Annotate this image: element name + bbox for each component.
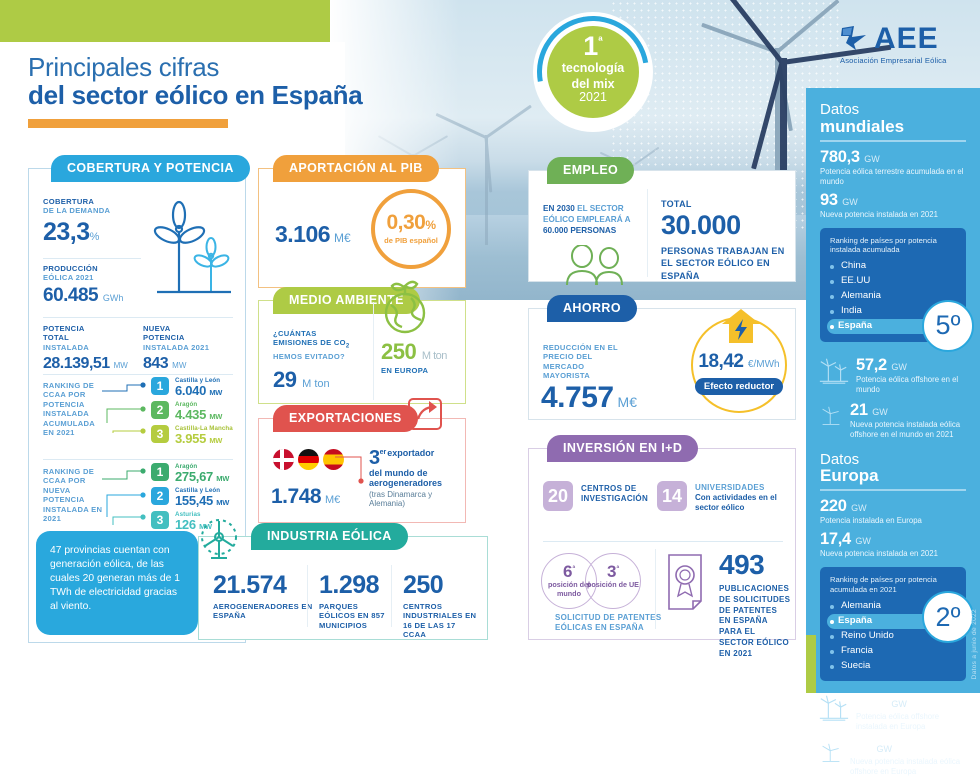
id-pos-world-sup: ª xyxy=(572,565,575,572)
ma-q2-sub: 2 xyxy=(346,344,350,350)
export-rank-text-2: del mundo de xyxy=(369,468,461,478)
rank-value: 3.955 MW xyxy=(175,431,233,446)
europa-rank-header: Ranking de países por potencia acumulada… xyxy=(830,575,956,594)
badge-year: 2021 xyxy=(547,91,639,105)
id-pub-value: 493 xyxy=(719,549,791,581)
rank-value-num: 3.955 xyxy=(175,431,206,446)
industria-label-1: AEROGENERADORES EN ESPAÑA xyxy=(213,602,313,621)
export-rank-text-1: exportador xyxy=(387,449,434,459)
offshore-turbine-single-icon xyxy=(818,401,844,431)
europa-rank-item[interactable]: Francia xyxy=(830,644,956,659)
europa-stat2-desc: Nueva potencia instalada en 2021 xyxy=(820,549,966,559)
europa-stat-3: 28,3 GW Potencia eólica offshore instala… xyxy=(806,681,980,732)
id-pos-eu-value: 3ª xyxy=(586,563,640,580)
europa-stat1-desc: Potencia instalada en Europa xyxy=(820,516,966,526)
ranking-new-row: 2 Castilla y León 155,45 MW xyxy=(151,487,229,508)
id-centros-group: 20 CENTROS DE INVESTIGACIÓN xyxy=(543,481,659,511)
card-empleo: EMPLEO EN 2030 EL SECTOR EÓLICO EMPLEARÁ… xyxy=(528,170,796,282)
offshore-turbines-icon xyxy=(818,693,850,723)
sidebar-footnote: Datos a junio de 2022 xyxy=(971,609,978,679)
rank-value-unit: MW xyxy=(216,474,229,483)
mundiales-position-badge: 5º xyxy=(922,300,974,352)
ahorro-number: 4.757 xyxy=(541,381,614,414)
mundiales-stat-2: 93 GW Nueva potencia instalada en 2021 xyxy=(806,187,980,220)
industria-value-1: 21.574 xyxy=(213,571,313,600)
page-title: Principales cifras del sector eólico en … xyxy=(28,52,362,128)
europa-stat3-unit: GW xyxy=(891,699,907,709)
top-badge: 1ª tecnología del mix 2021 xyxy=(533,12,653,132)
mundiales-title-b: mundiales xyxy=(820,118,980,136)
europa-title-b: Europa xyxy=(820,467,980,485)
mundiales-stat4-value: 21 xyxy=(850,401,868,419)
ranking-acc-row: 2 Aragón 4.435 MW xyxy=(151,401,233,422)
id-pos-eu-sup: ª xyxy=(616,565,619,572)
ma-spain-value: 29 M ton xyxy=(273,367,373,393)
mundiales-stat4-desc: Nueva potencia instalada eólica offshore… xyxy=(850,420,968,440)
badge-line-2: tecnología xyxy=(547,62,639,76)
turbine-illustration-icon xyxy=(149,199,235,309)
sidebar: Datos mundiales 780,3 GW Potencia eólica… xyxy=(806,88,980,693)
europa-stat1-value: 220 xyxy=(820,497,847,515)
mundiales-title-a: Datos xyxy=(820,102,980,118)
patent-document-icon xyxy=(665,553,711,611)
pib-pct-number: 0,30 xyxy=(386,211,425,234)
badge-line-3: del mix xyxy=(547,78,639,92)
rank-value-unit: MW xyxy=(209,412,222,421)
cobertura-prod-value: 60.485 GWh xyxy=(43,285,153,307)
title-line-1: Principales cifras xyxy=(28,52,362,83)
demand-number: 23,3 xyxy=(43,218,90,246)
rank-pos: 1 xyxy=(151,463,169,481)
ma-europe-label: EN EUROPA xyxy=(381,366,447,375)
pib-unit: M€ xyxy=(334,231,351,245)
prod-unit: GWh xyxy=(103,293,124,303)
ahorro-desc: REDUCCIÓN EN EL PRECIO DEL MERCADO MAYOR… xyxy=(543,343,623,381)
mundiales-stat1-value: 780,3 xyxy=(820,148,860,166)
rank-pos: 3 xyxy=(151,511,169,529)
industria-pill: INDUSTRIA EÓLICA xyxy=(251,523,408,550)
europa-stat-2: 17,4 GW Nueva potencia instalada en 2021 xyxy=(806,526,980,559)
europa-stat4-value: 3,3 xyxy=(850,738,872,756)
empleo-total-value: 30.000 xyxy=(661,210,785,241)
ahorro-chip: Efecto reductor xyxy=(695,378,783,395)
export-rank-note: (tras Dinamarca y Alemania) xyxy=(369,490,461,509)
flag-denmark-icon xyxy=(273,449,294,470)
cobertura-pill: COBERTURA Y POTENCIA xyxy=(51,155,250,182)
cobertura-demand-label-1: COBERTURA xyxy=(43,197,143,206)
ranking-acc-label: RANKING DE CCAA POR POTENCIA INSTALADA A… xyxy=(43,381,105,438)
ma-q2-text: EMISIONES DE CO xyxy=(273,338,346,347)
demand-unit: % xyxy=(90,231,100,243)
mundiales-stat2-value: 93 xyxy=(820,191,838,209)
mundiales-stat1-desc: Potencia eólica terrestre acumulada en e… xyxy=(820,167,966,187)
id-divider xyxy=(655,549,656,629)
aee-logo: AEE Asociación Empresarial Eólica xyxy=(840,24,947,65)
pib-value: 3.106 M€ xyxy=(275,221,351,248)
pib-pct-symbol: % xyxy=(425,218,435,232)
industria-value-2: 1.298 xyxy=(319,571,389,600)
ma-question-3: HEMOS EVITADO? xyxy=(273,352,373,361)
ahorro-circle: 18,42 €/MWh Efecto reductor xyxy=(691,317,787,413)
id-patents-label: SOLICITUD DE PATENTES EÓLICAS EN ESPAÑA xyxy=(555,613,665,633)
ahorro-unit: M€ xyxy=(618,394,637,410)
ma-europe-number: 250 xyxy=(381,339,416,364)
rank-value: 275,67 MW xyxy=(175,469,229,484)
empleo-left-bold-2: 60.000 PERSONAS xyxy=(543,226,616,235)
badge-rank-sup: ª xyxy=(598,34,602,48)
rank-value-unit: MW xyxy=(216,498,229,507)
europa-position-badge: 2º xyxy=(922,591,974,643)
export-number: 1.748 xyxy=(271,485,321,508)
ranking-acc-label-text: RANKING DE CCAA POR POTENCIA INSTALADA A… xyxy=(43,381,95,437)
mundiales-stat4-unit: GW xyxy=(872,407,888,417)
logo-name: AEE xyxy=(874,24,939,54)
pib-pill: APORTACIÓN AL PIB xyxy=(273,155,439,182)
ranking-new-label-text: RANKING DE CCAA POR NUEVA POTENCIA INSTA… xyxy=(43,467,102,523)
rank-pos: 2 xyxy=(151,487,169,505)
export-unit: M€ xyxy=(325,494,340,506)
europa-stat3-value: 28,3 xyxy=(856,693,887,711)
rank-value-num: 155,45 xyxy=(175,493,213,508)
id-pos-eu-circle: 3ª posición de UE xyxy=(585,553,641,609)
ma-spain-number: 29 xyxy=(273,367,296,392)
new-number: 843 xyxy=(143,355,168,372)
rank-value-unit: MW xyxy=(209,388,222,397)
mundiales-stat1-unit: GW xyxy=(864,154,880,164)
id-centros-label: CENTROS DE INVESTIGACIÓN xyxy=(581,484,659,504)
cobertura-prod-label-1: PRODUCCIÓN xyxy=(43,264,153,273)
total-number: 28.139,51 xyxy=(43,355,110,372)
house-bolt-icon xyxy=(720,305,762,347)
pib-pct-value: 0,30% xyxy=(375,211,447,235)
ahorro-value: 4.757 M€ xyxy=(541,381,637,415)
cobertura-total-label-3: INSTALADA xyxy=(43,343,133,352)
id-pub-label: PUBLICACIONES DE SOLICITUDES DE PATENTES… xyxy=(719,584,791,660)
offshore-turbines-icon xyxy=(818,356,850,386)
export-share-icon xyxy=(405,393,447,435)
id-uni-label: Con actividades en el sector eólico xyxy=(695,493,781,513)
ahorro-circle-value: 18,42 xyxy=(698,351,743,372)
ahorro-circle-unit: €/MWh xyxy=(748,359,780,370)
cobertura-demand-value: 23,3% xyxy=(43,218,143,247)
id-pos-eu-label: posición de UE xyxy=(586,581,640,590)
ahorro-pill: AHORRO xyxy=(547,295,637,322)
rank-value-unit: MW xyxy=(209,436,222,445)
ma-spain-unit: M ton xyxy=(302,378,330,390)
mundiales-rank-item[interactable]: EE.UU xyxy=(830,274,956,289)
industry-turbine-icon xyxy=(191,511,247,567)
mundiales-stat2-desc: Nueva potencia instalada en 2021 xyxy=(820,210,966,220)
logo-subtitle: Asociación Empresarial Eólica xyxy=(840,56,947,65)
ma-divider xyxy=(373,302,374,400)
empleo-left-bold-1: EN 2030 xyxy=(543,204,575,213)
badge-rank: 1ª xyxy=(547,33,639,60)
ranking-acc-row: 3 Castilla-La Mancha 3.955 MW xyxy=(151,425,233,446)
cobertura-new-label-3: INSTALADA 2021 xyxy=(143,343,238,352)
cobertura-total-label-1: POTENCIA xyxy=(43,324,133,333)
id-centros-value: 20 xyxy=(543,481,573,511)
mundiales-stat3-unit: GW xyxy=(891,362,907,372)
industria-label-2: PARQUES EÓLICOS EN 857 MUNICIPIOS xyxy=(319,602,389,630)
card-exportaciones: EXPORTACIONES 1.748 M€ 3 er exportador d… xyxy=(258,418,466,523)
id-uni-label-bold: UNIVERSIDADES xyxy=(695,483,781,493)
cobertura-total-value: 28.139,51 MW xyxy=(43,355,133,373)
pib-percent-circle: 0,30% de PIB español xyxy=(371,189,451,269)
mundiales-stat-4: 21 GW Nueva potencia instalada eólica of… xyxy=(806,395,980,440)
empleo-pill: EMPLEO xyxy=(547,157,634,184)
industria-label-3: CENTROS INDUSTRIALES EN 16 DE LAS 17 CCA… xyxy=(403,602,481,640)
id-universidades-group: 14 UNIVERSIDADES Con actividades en el s… xyxy=(657,481,781,513)
ma-question-2: EMISIONES DE CO2 xyxy=(273,338,373,351)
europa-rank-item[interactable]: Suecia xyxy=(830,659,956,674)
pib-number: 3.106 xyxy=(275,221,330,247)
ranking-acc-list: 1 Castilla y León 6.040 MW 2 Aragón 4.43… xyxy=(151,377,233,446)
sidebar-mundiales-header: Datos mundiales xyxy=(806,102,980,136)
rank-pos: 2 xyxy=(151,401,169,419)
pib-pct-label: de PIB español xyxy=(375,236,447,245)
new-unit: MW xyxy=(172,361,186,370)
empleo-divider xyxy=(647,189,648,277)
sidebar-green-accent xyxy=(806,635,816,693)
rank-value-num: 275,67 xyxy=(175,469,213,484)
empleo-total-desc: PERSONAS TRABAJAN EN EL SECTOR EÓLICO EN… xyxy=(661,245,785,281)
card-medio-ambiente: MEDIO AMBIENTE ¿CUÁNTAS EMISIONES DE CO2… xyxy=(258,300,466,404)
ranking-new-row: 1 Aragón 275,67 MW xyxy=(151,463,229,484)
europa-stat2-unit: GW xyxy=(855,536,871,546)
ranking-new-label: RANKING DE CCAA POR NUEVA POTENCIA INSTA… xyxy=(43,467,105,524)
export-rank-text-3: aerogeneradores xyxy=(369,478,461,488)
title-line-2: del sector eólico en España xyxy=(28,80,362,111)
id-uni-value: 14 xyxy=(657,481,687,511)
badge-rank-number: 1 xyxy=(583,31,598,61)
export-rank-sup: er xyxy=(380,449,387,456)
mundiales-stat2-unit: GW xyxy=(842,197,858,207)
export-rank-number: 3 xyxy=(369,449,380,468)
ma-europe-value: 250 M ton xyxy=(381,339,447,365)
prod-number: 60.485 xyxy=(43,285,98,306)
people-icon xyxy=(557,245,635,285)
cobertura-prod-label-2: EÓLICA 2021 xyxy=(43,273,153,282)
id-patents-group: 6ª posición del mundo 3ª posición de UE … xyxy=(541,553,681,633)
id-pill: INVERSIÓN EN I+D xyxy=(547,435,698,462)
mundiales-stat3-desc: Potencia eólica offshore en el mundo xyxy=(856,375,968,395)
cobertura-new-label-1: NUEVA xyxy=(143,324,238,333)
aee-bird-icon xyxy=(840,24,874,54)
provinces-note: 47 provincias cuentan con generación eól… xyxy=(36,531,198,635)
export-flags xyxy=(273,449,344,470)
globe-plant-icon xyxy=(377,279,435,337)
europa-stat-1: 220 GW Potencia instalada en Europa xyxy=(806,491,980,526)
card-inversion-id: INVERSIÓN EN I+D 20 CENTROS DE INVESTIGA… xyxy=(528,448,796,640)
rank-pos: 3 xyxy=(151,425,169,443)
rank-value: 4.435 MW xyxy=(175,407,222,422)
exportaciones-pill: EXPORTACIONES xyxy=(273,405,418,432)
europa-stat1-unit: GW xyxy=(851,503,867,513)
industria-divider-2 xyxy=(391,565,392,627)
industria-value-3: 250 xyxy=(403,571,481,600)
mundiales-stat-1: 780,3 GW Potencia eólica terrestre acumu… xyxy=(806,142,980,187)
europa-stat4-desc: Nueva potencia instalada eólica offshore… xyxy=(850,757,968,777)
export-connector xyxy=(335,449,369,487)
rank-pos: 1 xyxy=(151,377,169,395)
rank-value-num: 6.040 xyxy=(175,383,206,398)
mundiales-rank-header: Ranking de países por potencia instalada… xyxy=(830,236,956,255)
card-aportacion-pib: APORTACIÓN AL PIB 3.106 M€ 0,30% de PIB … xyxy=(258,168,466,288)
ranking-acc-row: 1 Castilla y León 6.040 MW xyxy=(151,377,233,398)
exportaciones-value: 1.748 M€ xyxy=(271,485,340,509)
rank-value: 6.040 MW xyxy=(175,383,222,398)
mundiales-stat3-value: 57,2 xyxy=(856,356,887,374)
europa-stat4-unit: GW xyxy=(877,744,893,754)
cobertura-new-value: 843 MW xyxy=(143,355,238,373)
europa-stat2-value: 17,4 xyxy=(820,530,851,548)
rank-value: 155,45 MW xyxy=(175,493,229,508)
cobertura-new-label-2: POTENCIA xyxy=(143,333,238,342)
title-underline xyxy=(28,119,228,128)
empleo-total-label: TOTAL xyxy=(661,199,785,210)
sidebar-europa-header: Datos Europa xyxy=(806,452,980,486)
ma-europe-unit: M ton xyxy=(422,350,447,362)
card-industria-eolica: INDUSTRIA EÓLICA 21.574 AEROGENERADORES … xyxy=(198,536,488,640)
europa-stat-4: 3,3 GW Nueva potencia instalada eólica o… xyxy=(806,732,980,777)
mundiales-rank-item[interactable]: China xyxy=(830,259,956,274)
europa-stat3-desc: Potencia eólica offshore instalada en Eu… xyxy=(856,712,968,732)
badge-green-circle: 1ª tecnología del mix 2021 xyxy=(547,26,639,118)
card-ahorro: AHORRO REDUCCIÓN EN EL PRECIO DEL MERCAD… xyxy=(528,308,796,420)
cobertura-total-label-2: TOTAL xyxy=(43,333,133,342)
cobertura-demand-label-2: DE LA DEMANDA xyxy=(43,206,143,215)
offshore-turbine-single-icon xyxy=(818,738,844,768)
flag-germany-icon xyxy=(298,449,319,470)
europa-title-a: Datos xyxy=(820,452,980,468)
total-unit: MW xyxy=(114,361,128,370)
rank-value-num: 4.435 xyxy=(175,407,206,422)
ma-question-1: ¿CUÁNTAS xyxy=(273,329,373,338)
industria-divider-1 xyxy=(307,565,308,627)
ranking-acc-connector xyxy=(101,381,153,451)
